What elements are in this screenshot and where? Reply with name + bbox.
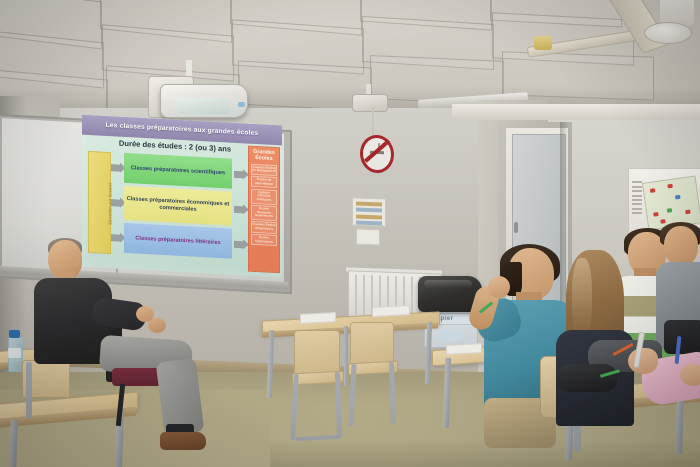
slide-selection-bar: Sélection sur dossier [88,151,111,254]
wall-notice [352,197,386,226]
ceiling-sensor-icon [534,36,552,50]
chair-back [294,330,340,376]
slide-grandes-ecoles-heading: Grandes Écoles [249,147,279,164]
paper-sheet [446,343,482,355]
desk-leg [344,326,348,386]
classroom-photo: Les classes préparatoires aux grandes éc… [0,0,700,467]
projected-slide: Les classes préparatoires aux grandes éc… [82,115,282,278]
bottle-cap [9,330,20,338]
slide-track-scientifiques: Classes préparatoires scientifiques [124,153,232,189]
presenter-shoe [160,432,206,450]
chair-leg [26,362,32,418]
chair-back [350,322,394,366]
slide-ecole-item: Écoles Normales Supérieures [251,205,277,221]
slide-arrow-icon [111,199,121,207]
slide-ecole-item: Écoles de Journalisme [251,176,277,189]
backpack [664,320,700,354]
slide-track-litteraires: Classes préparatoires littéraires [124,223,232,259]
slide-track-label: Classes préparatoires scientifiques [131,165,225,177]
presenter-ear [72,256,80,266]
slide-ecole-item: Grandes Écoles d'Ingénieurs [251,221,277,234]
slide-arrow-icon [234,206,244,214]
no-smoking-icon [360,134,394,173]
slide-ecole-item: Instituts d'Études Politiques [251,189,277,205]
paper-sheet [300,312,336,324]
slide-arrow-icon [234,241,244,249]
student-pink-hand [628,348,658,374]
projector-led-icon [238,102,245,107]
slide-ecole-item: Écoles Vétérinaires [251,234,277,247]
slide-ecole-item: Grandes Écoles de Management [251,163,277,176]
slide-arrow-icon [111,164,121,172]
bottle-label [8,348,21,358]
slide-track-label: Classes préparatoires littéraires [135,235,220,246]
wall-soffit [452,104,700,120]
recycling-logo-icon [437,329,463,341]
projector-lens-icon [176,98,230,114]
wall-notice [356,229,380,246]
slide-grandes-ecoles-column: Grandes Écoles Grandes Écoles de Managem… [248,146,280,274]
ceiling-speaker-icon [352,94,388,112]
student-pink-hand [680,364,700,386]
student-longhair-highlight [572,258,592,338]
slide-track-economiques: Classes préparatoires économiques et com… [124,186,232,226]
ceiling-fan-icon [644,22,692,44]
pencil-case [556,364,618,392]
presenter-hand [148,318,166,333]
door-handle[interactable] [514,222,518,233]
paper-sheet [372,305,410,317]
student-teal-hand [488,276,510,298]
sign-hanger [372,107,374,137]
student-grey-head [664,226,698,266]
slide-arrow-icon [234,171,244,179]
plan-legend [631,179,643,223]
slide-arrow-icon [111,234,121,242]
slide-track-label: Classes préparatoires économiques et com… [124,196,232,215]
